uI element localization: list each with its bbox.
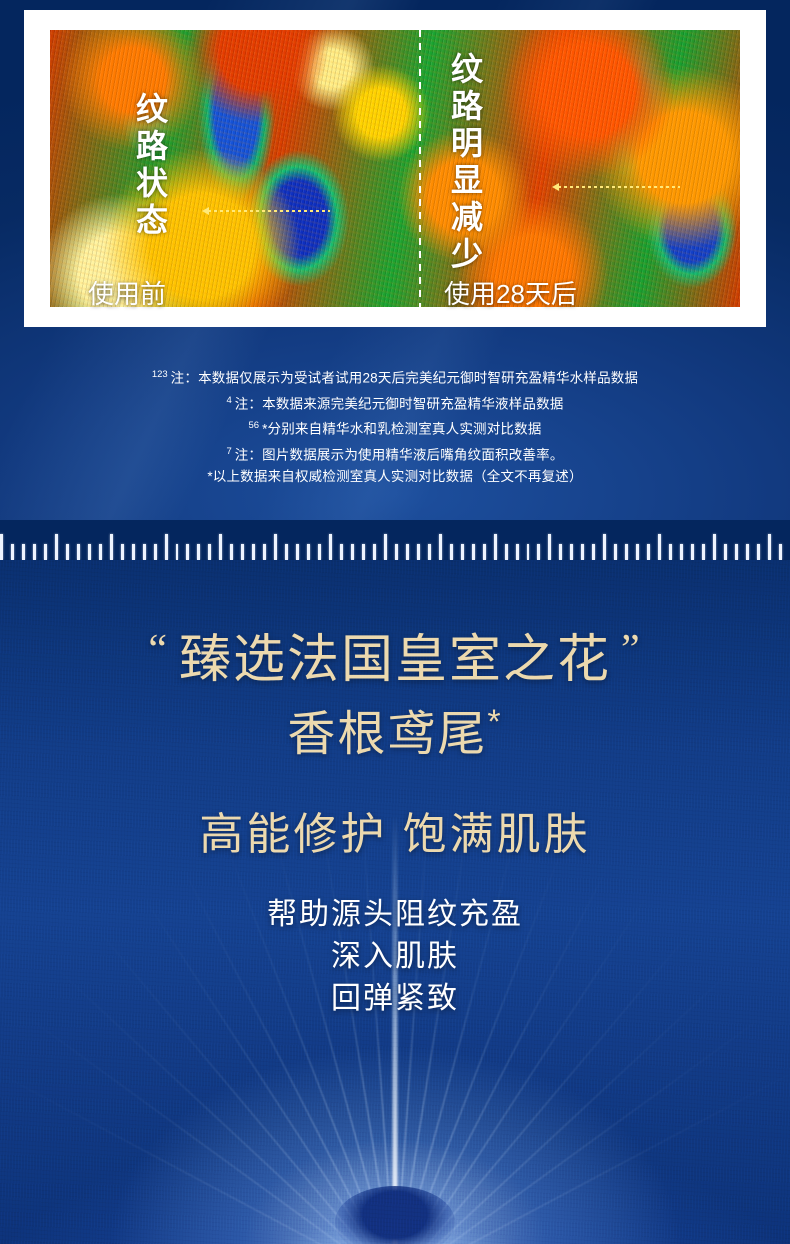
footnote-item: 4注：本数据来源完美纪元御时智研充盈精华液样品数据 <box>0 390 790 416</box>
dotted-arrow-before <box>202 207 330 215</box>
asterisk-marker: * <box>487 703 502 741</box>
ruler-tick <box>230 544 233 560</box>
ruler-tick <box>11 544 14 560</box>
ruler-tick <box>472 544 475 560</box>
ruler-tick <box>110 534 113 560</box>
ruler-tick <box>274 534 277 560</box>
footnote-text: 注：本数据仅展示为受试者试用28天后完美纪元御时智研充盈精华水样品数据 <box>171 371 639 386</box>
panel-divider-line <box>419 30 421 307</box>
footnote-text: 注：图片数据展示为使用精华液后嘴角纹面积改善率。 <box>235 447 564 462</box>
ruler-tick <box>537 544 540 560</box>
ruler-tick <box>570 544 573 560</box>
ruler-tick <box>384 534 387 560</box>
ruler-tick <box>603 534 606 560</box>
footnote-text: *分别来自精华水和乳检测室真人实测对比数据 <box>262 422 541 437</box>
panel-caption-before: 使用前 <box>88 274 166 311</box>
ruler-tick <box>691 544 694 560</box>
ruler-tick <box>362 544 365 560</box>
footnote-item: 7注：图片数据展示为使用精华液后嘴角纹面积改善率。 <box>0 441 790 467</box>
ruler-tick <box>121 544 124 560</box>
ruler-tick <box>658 534 661 560</box>
headline-text: 臻选法国皇室之花 <box>179 631 611 689</box>
ruler-tick <box>680 544 683 560</box>
ruler-tick <box>527 544 530 560</box>
ruler-tick <box>77 544 80 560</box>
ruler-tick <box>165 534 168 560</box>
ruler-tick <box>483 544 486 560</box>
ruler-tick <box>746 544 749 560</box>
ruler-tick <box>88 544 91 560</box>
footnote-item: 123注：本数据仅展示为受试者试用28天后完美纪元御时智研充盈精华水样品数据 <box>0 364 790 390</box>
panel-vertical-label-after: 纹路明显减少 <box>449 52 481 274</box>
iris-copy-block: “臻选法国皇室之花” 香根鸢尾* 高能修护 饱满肌肤 帮助源头阻纹充盈 深入肌肤… <box>0 560 790 1020</box>
ruler-tick <box>505 544 508 560</box>
thermal-comparison-section: 纹路状态 纹路明显减少 使用前 使用28天后 123注：本数据仅展示为受试者试用… <box>0 0 790 520</box>
ruler-tick <box>329 534 332 560</box>
ruler-tick <box>351 544 354 560</box>
ruler-tick <box>307 544 310 560</box>
ruler-tick <box>417 544 420 560</box>
ruler-tick <box>406 544 409 560</box>
ruler-tick <box>132 544 135 560</box>
footnote-text: 注：本数据来源完美纪元御时智研充盈精华液样品数据 <box>235 396 564 411</box>
ruler-tick <box>450 544 453 560</box>
ruler-tick <box>22 544 25 560</box>
ruler-tick <box>724 544 727 560</box>
ruler-tick <box>241 544 244 560</box>
ruler-tick <box>0 534 3 560</box>
ruler-tick <box>373 544 376 560</box>
ruler-tick <box>176 544 179 560</box>
footnote-superscript: 4 <box>226 395 231 406</box>
footnote-superscript: 123 <box>152 369 168 380</box>
ruler-tick <box>395 544 398 560</box>
ruler-tick <box>548 534 551 560</box>
thermal-photo-frame: 纹路状态 纹路明显减少 使用前 使用28天后 <box>24 10 766 327</box>
ruler-tick <box>340 544 343 560</box>
quote-close-icon: ” <box>621 627 642 673</box>
ruler-tick <box>252 544 255 560</box>
page-headline: “臻选法国皇室之花” <box>0 628 790 688</box>
ruler-tick <box>516 544 519 560</box>
ruler-tick <box>669 544 672 560</box>
ruler-tick <box>99 544 102 560</box>
footnote-superscript: 56 <box>248 420 259 431</box>
dotted-arrow-after <box>552 183 680 191</box>
page-subheadline: 香根鸢尾* <box>0 694 790 764</box>
ruler-tick <box>197 544 200 560</box>
footnote-item: 56*分别来自精华水和乳检测室真人实测对比数据 <box>0 415 790 441</box>
ruler-tick <box>33 544 36 560</box>
ruler-tick <box>428 544 431 560</box>
benefit-item: 深入肌肤 <box>0 936 790 978</box>
ruler-divider <box>0 530 790 560</box>
ruler-tick <box>625 544 628 560</box>
ruler-tick <box>647 544 650 560</box>
panel-vertical-label-before: 纹路状态 <box>134 92 166 240</box>
ruler-tick <box>713 534 716 560</box>
ruler-tick <box>614 544 617 560</box>
ruler-tick <box>143 544 146 560</box>
ruler-tick <box>219 534 222 560</box>
ruler-tick <box>55 534 58 560</box>
ruler-tick <box>296 544 299 560</box>
quote-open-icon: “ <box>148 627 169 673</box>
ruler-tick <box>757 544 760 560</box>
ruler-tick <box>439 534 442 560</box>
ruler-tick <box>461 544 464 560</box>
footnote-list: 123注：本数据仅展示为受试者试用28天后完美纪元御时智研充盈精华水样品数据 4… <box>0 364 790 488</box>
ruler-tick <box>263 544 266 560</box>
ruler-tick <box>559 544 562 560</box>
iris-hero-section: “臻选法国皇室之花” 香根鸢尾* 高能修护 饱满肌肤 帮助源头阻纹充盈 深入肌肤… <box>0 560 790 1244</box>
footnote-superscript: 7 <box>226 446 231 457</box>
benefit-item: 回弹紧致 <box>0 978 790 1020</box>
footnote-item: *以上数据来自权威检测室真人实测对比数据（全文不再复述） <box>0 466 790 488</box>
ruler-tick <box>44 544 47 560</box>
subheadline-text: 香根鸢尾 <box>287 708 487 761</box>
benefit-list: 帮助源头阻纹充盈 深入肌肤 回弹紧致 <box>0 894 790 1020</box>
tagline: 高能修护 饱满肌肤 <box>0 798 790 862</box>
ruler-tick <box>735 544 738 560</box>
ruler-tick <box>779 544 782 560</box>
ruler-tick <box>592 544 595 560</box>
ruler-tick <box>285 544 288 560</box>
ruler-tick <box>186 544 189 560</box>
ruler-tick <box>208 544 211 560</box>
arrow-line <box>208 210 330 212</box>
ruler-tick <box>581 544 584 560</box>
ruler-tick <box>154 544 157 560</box>
benefit-item: 帮助源头阻纹充盈 <box>0 894 790 936</box>
ruler-tick <box>768 534 771 560</box>
arrow-line <box>558 186 680 188</box>
panel-caption-after: 使用28天后 <box>444 274 577 311</box>
ruler-tick <box>702 544 705 560</box>
footnote-text: *以上数据来自权威检测室真人实测对比数据（全文不再复述） <box>207 469 582 484</box>
ruler-tick <box>494 534 497 560</box>
ruler-tick <box>318 544 321 560</box>
ruler-tick <box>636 544 639 560</box>
ruler-tick <box>66 544 69 560</box>
